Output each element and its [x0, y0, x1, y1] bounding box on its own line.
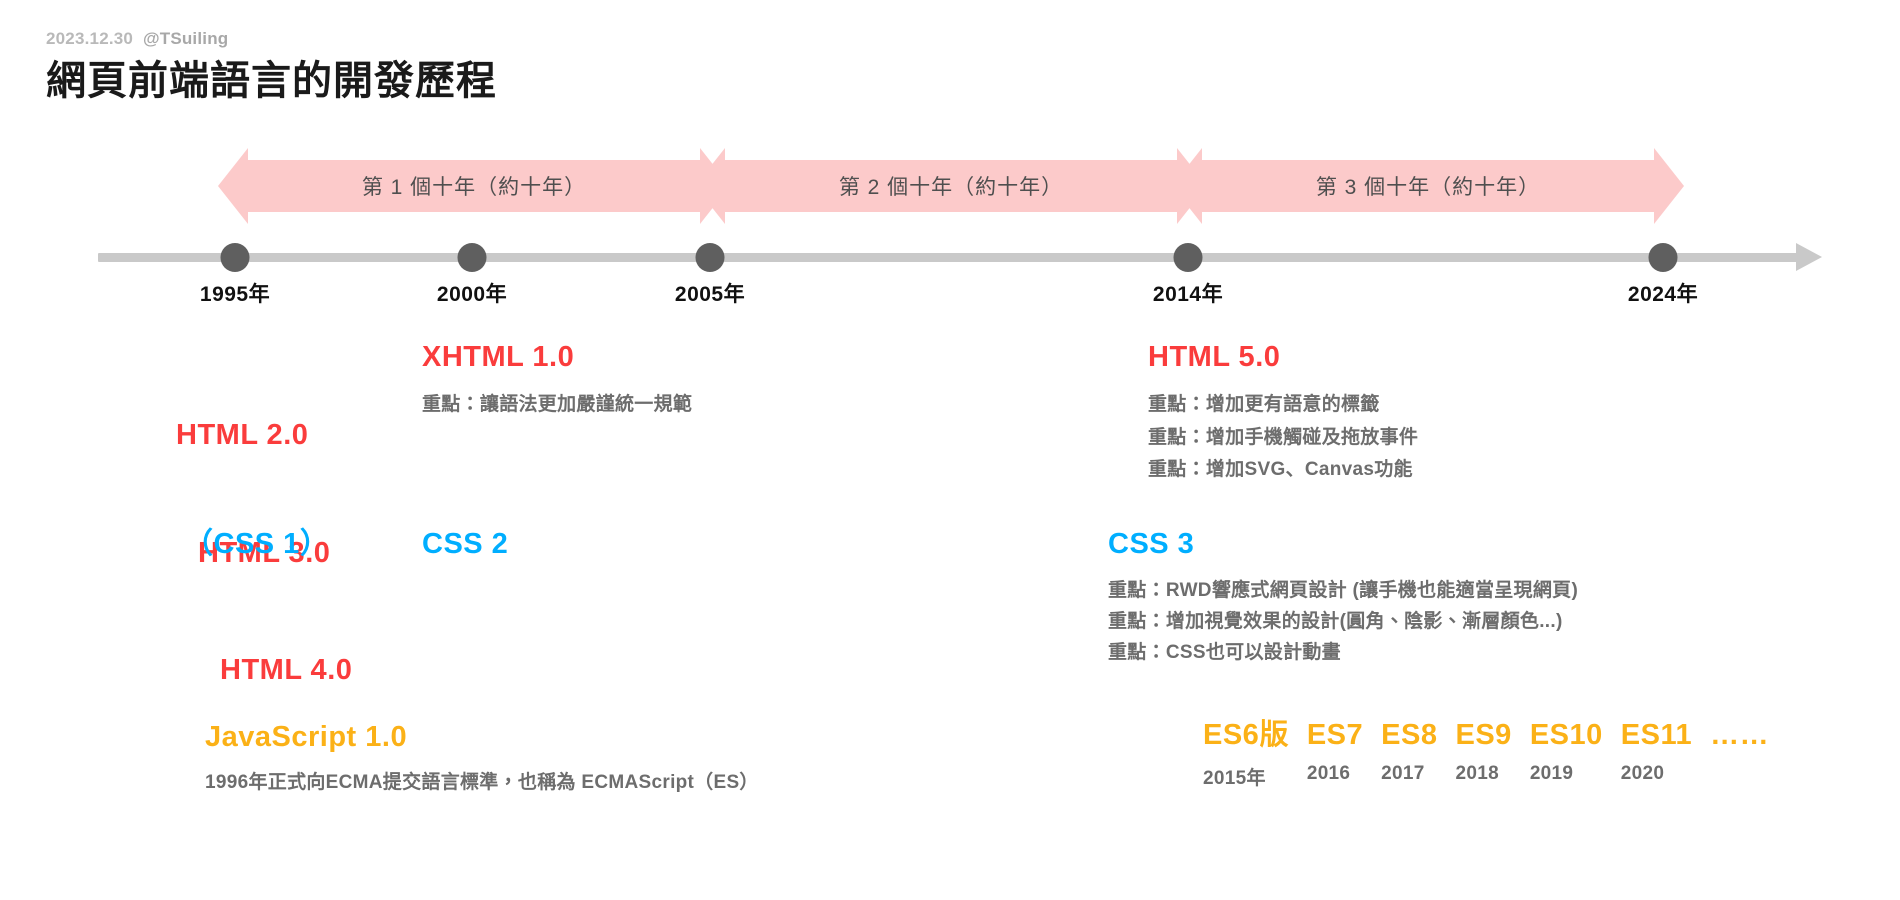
es-version-item: ES10 2019: [1530, 718, 1603, 785]
html-block-2000: XHTML 1.0 重點：讓語法更加嚴謹統一規範: [422, 338, 692, 422]
header-date: 2023.12.30: [46, 29, 133, 48]
timeline-dot-icon: [1174, 243, 1203, 272]
header-meta: 2023.12.30 @TSuiling: [46, 30, 497, 47]
decade-arrow-2-label: 第 2 個十年（約十年）: [839, 171, 1063, 201]
es-version-item: ……: [1710, 718, 1769, 763]
timeline-dot-icon: [1649, 243, 1678, 272]
decade-arrow-2: 第 2 個十年（約十年）: [725, 160, 1177, 212]
html5-note: 重點：增加手機觸碰及拖放事件: [1148, 422, 1418, 455]
arrow-head-left-icon: [695, 148, 725, 224]
css3-note: 重點：RWD響應式網頁設計 (讓手機也能適當呈現網頁): [1108, 576, 1578, 607]
css-block-2000: CSS 2: [422, 525, 508, 564]
es-version-year: 2020: [1621, 763, 1692, 785]
js-block-2000: JavaScript 1.0 1996年正式向ECMA提交語言標準，也稱為 EC…: [205, 718, 759, 800]
es-version-year: 2019: [1530, 763, 1603, 785]
html-block-2014: HTML 5.0 重點：增加更有語意的標籤 重點：增加手機觸碰及拖放事件 重點：…: [1148, 338, 1418, 487]
es-version-item: ES7 2016: [1307, 718, 1363, 785]
css3-note: 重點：CSS也可以設計動畫: [1108, 638, 1578, 669]
css2-title: CSS 2: [422, 525, 508, 564]
es-version-item: ES11 2020: [1621, 718, 1692, 785]
es-version-name: ES11: [1621, 718, 1692, 753]
timeline-year-label: 2014年: [1153, 278, 1223, 308]
es-version-name: ES7: [1307, 718, 1363, 753]
page-title: 網頁前端語言的開發歷程: [46, 59, 497, 103]
timeline-dot-icon: [696, 243, 725, 272]
es-version-name: ES9: [1455, 718, 1511, 753]
decade-arrow-3: 第 3 個十年（約十年）: [1202, 160, 1654, 212]
css-block-1995: （CSS 1）: [184, 525, 329, 564]
timeline-dot-icon: [221, 243, 250, 272]
css-block-2014: CSS 3 重點：RWD響應式網頁設計 (讓手機也能適當呈現網頁) 重點：增加視…: [1108, 525, 1578, 668]
es-version-item: ES8 2017: [1381, 718, 1437, 785]
html5-note: 重點：增加SVG、Canvas功能: [1148, 454, 1418, 487]
es-version-name: ……: [1710, 718, 1769, 753]
decade-arrow-3-label: 第 3 個十年（約十年）: [1316, 171, 1540, 201]
js-block-2014: ES6版 2015年 ES7 2016 ES8 2017 ES9 2018 ES…: [1203, 718, 1787, 790]
decade-arrow-1-label: 第 1 個十年（約十年）: [362, 171, 586, 201]
css3-note: 重點：增加視覺效果的設計(圓角、陰影、漸層顏色...): [1108, 607, 1578, 638]
es-version-year: 2017: [1381, 763, 1437, 785]
css1-title: （CSS 1）: [184, 525, 329, 564]
arrow-head-right-icon: [1654, 148, 1684, 224]
timeline-dot-icon: [458, 243, 487, 272]
html-version-label: HTML 4.0: [176, 651, 352, 690]
html-version-label: HTML 2.0: [176, 416, 352, 455]
xhtml-title: XHTML 1.0: [422, 338, 692, 377]
css3-title: CSS 3: [1108, 525, 1578, 564]
decade-arrow-1: 第 1 個十年（約十年）: [248, 160, 700, 212]
javascript-title: JavaScript 1.0: [205, 718, 759, 757]
html5-title: HTML 5.0: [1148, 338, 1418, 377]
es-version-year: 2015年: [1203, 763, 1289, 790]
es-version-name: ES6版: [1203, 718, 1289, 753]
arrow-head-left-icon: [218, 148, 248, 224]
es-version-grid: ES6版 2015年 ES7 2016 ES8 2017 ES9 2018 ES…: [1203, 718, 1787, 790]
timeline-year-label: 2000年: [437, 278, 507, 308]
timeline-arrow-head-icon: [1796, 243, 1822, 271]
es-version-name: ES10: [1530, 718, 1603, 753]
arrow-head-left-icon: [1172, 148, 1202, 224]
header-author: @TSuiling: [143, 29, 228, 48]
es-version-item: ES9 2018: [1455, 718, 1511, 785]
xhtml-note: 重點：讓語法更加嚴謹統一規範: [422, 389, 692, 422]
timeline-year-label: 2005年: [675, 278, 745, 308]
es-version-item: ES6版 2015年: [1203, 718, 1289, 790]
timeline-axis: [98, 253, 1798, 262]
es-version-year: 2018: [1455, 763, 1511, 785]
timeline-year-label: 2024年: [1628, 278, 1698, 308]
page-header: 2023.12.30 @TSuiling 網頁前端語言的開發歷程: [46, 30, 497, 103]
html5-note: 重點：增加更有語意的標籤: [1148, 389, 1418, 422]
es-version-name: ES8: [1381, 718, 1437, 753]
javascript-note: 1996年正式向ECMA提交語言標準，也稱為 ECMAScript（ES）: [205, 767, 759, 800]
timeline-year-label: 1995年: [200, 278, 270, 308]
es-version-year: 2016: [1307, 763, 1363, 785]
